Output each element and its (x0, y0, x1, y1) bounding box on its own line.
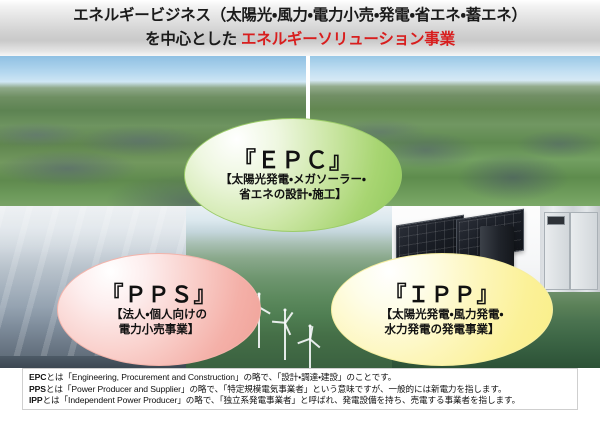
bubble-pps-desc-line-1: 【法人・個人向けの (111, 308, 207, 323)
cabinet-door-panel (570, 212, 598, 290)
footnote-text-epc: とは「Engineering, Procurement and Construc… (46, 372, 396, 382)
bubble-ipp-desc-line-2: 水力発電の発電事業】 (385, 323, 500, 338)
header-line2-prefix: を中心とした (145, 31, 241, 48)
bubble-pps[interactable]: 『ＰＰＳ』 【法人・個人向けの 電力小売事業】 (57, 253, 261, 366)
bubble-epc-title: 『ＥＰＣ』 (233, 147, 353, 173)
photo-power-conditioner-cabinet (540, 206, 600, 294)
wind-turbine-icon (278, 310, 292, 360)
header-title-line-1: エネルギービジネス（太陽光・風力・電力小売・発電・省エネ・蓄エネ） (0, 4, 600, 28)
bubble-epc-desc-line-2: 省エネの設計・施工】 (239, 188, 346, 203)
footnote-line-ipp: IPPとは「Independent Power Producer」の略で、「独立… (29, 395, 577, 407)
footnote-term-pps: PPS (29, 384, 46, 394)
slide-header: エネルギービジネス（太陽光・風力・電力小売・発電・省エネ・蓄エネ） を中心とした… (0, 0, 600, 56)
footnote-text-ipp: とは「Independent Power Producer」の略で、「独立系発電… (43, 395, 521, 405)
footnote-term-ipp: IPP (29, 395, 43, 405)
slide-canvas: エネルギービジネス（太陽光・風力・電力小売・発電・省エネ・蓄エネ） を中心とした… (0, 0, 600, 422)
footnote-line-pps: PPSとは「Power Producer and Supplier」の略で、「特… (29, 384, 577, 396)
bubble-pps-desc-line-2: 電力小売事業】 (119, 323, 200, 338)
footnote-line-epc: EPCとは「Engineering, Procurement and Const… (29, 372, 577, 384)
cabinet-display-screen (547, 216, 565, 225)
bubble-ipp[interactable]: 『ＩＰＰ』 【太陽光発電・風力発電・ 水力発電の発電事業】 (331, 253, 553, 366)
slide-footer-bar (0, 410, 600, 422)
footnote-text-pps: とは「Power Producer and Supplier」の略で、「特定規模… (46, 384, 507, 394)
header-line2-accent: エネルギーソリューション事業 (241, 31, 455, 48)
bubble-ipp-desc-line-1: 【太陽光発電・風力発電・ (381, 308, 504, 323)
wind-turbine-icon (304, 326, 316, 368)
bubble-pps-title: 『ＰＰＳ』 (101, 282, 216, 308)
bubble-epc[interactable]: 『ＥＰＣ』 【太陽光発電・メガソーラー・ 省エネの設計・施工】 (184, 118, 402, 232)
bubble-epc-desc-line-1: 【太陽光発電・メガソーラー・ (220, 173, 366, 188)
footnote-box: EPCとは「Engineering, Procurement and Const… (22, 368, 578, 410)
footnote-term-epc: EPC (29, 372, 46, 382)
header-title-line-2: を中心とした エネルギーソリューション事業 (0, 28, 600, 52)
bubble-ipp-title: 『ＩＰＰ』 (384, 282, 499, 308)
